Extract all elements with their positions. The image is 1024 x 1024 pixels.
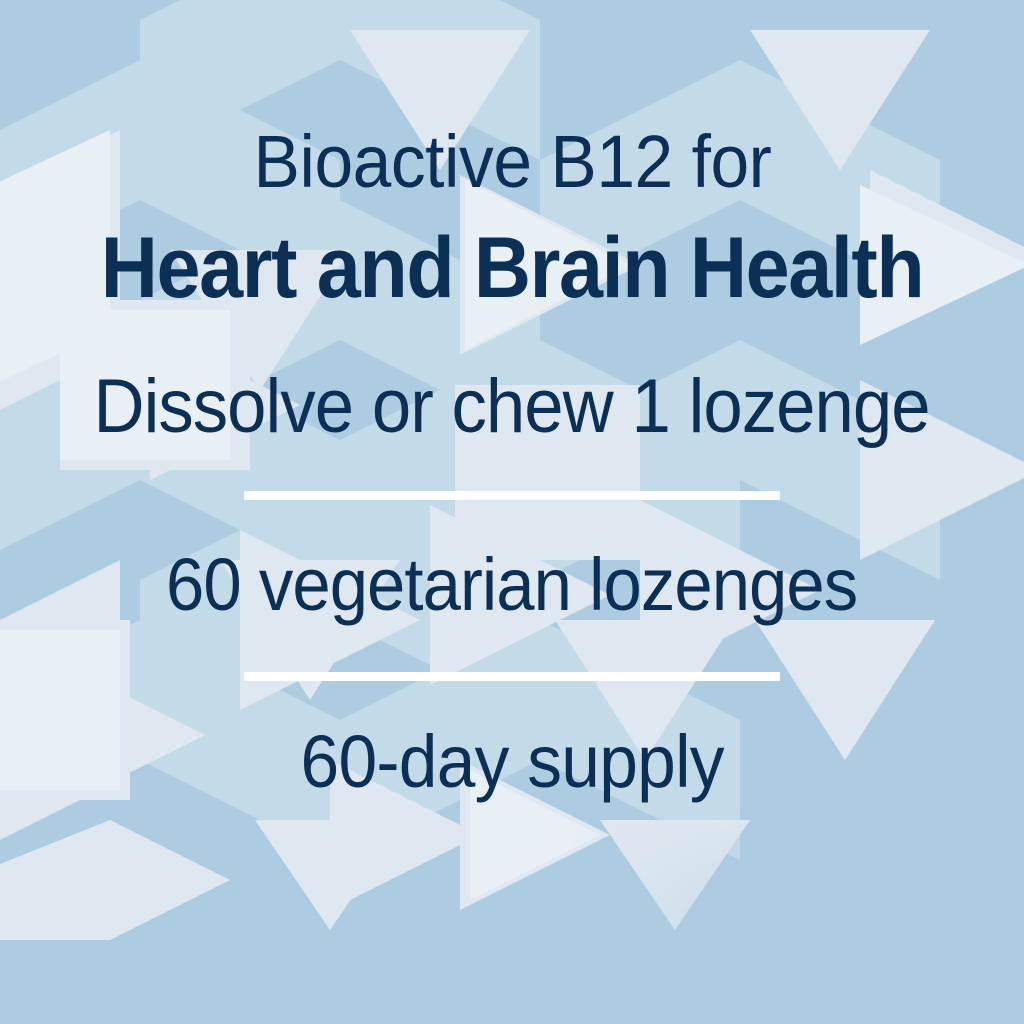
headline-top: Bioactive B12 for — [253, 125, 771, 199]
count-text: 60 vegetarian lozenges — [166, 548, 857, 622]
marketing-copy-stack: Bioactive B12 for Heart and Brain Health… — [0, 0, 1024, 1024]
headline-main: Heart and Brain Health — [101, 225, 924, 311]
divider-rule-top — [244, 491, 780, 500]
directions-text: Dissolve or chew 1 lozenge — [94, 369, 930, 445]
product-feature-card: Bioactive B12 for Heart and Brain Health… — [0, 0, 1024, 1024]
divider-rule-bottom — [244, 672, 780, 681]
supply-text: 60-day supply — [300, 725, 723, 799]
